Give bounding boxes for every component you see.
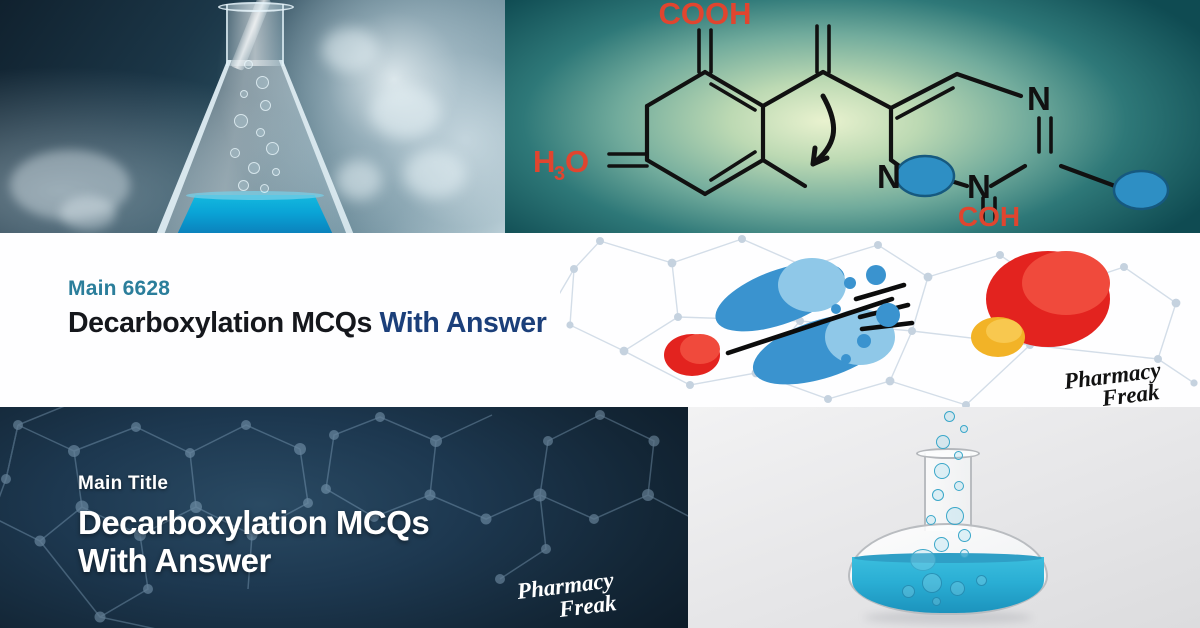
svg-text:O: O — [565, 144, 589, 179]
label-coh: COH — [958, 201, 1020, 232]
watermark-pharmacy-freak-light: Pharmacy Freak — [516, 578, 656, 620]
atom-oxygen-highlight-2 — [1114, 171, 1168, 209]
bubble-icon — [946, 507, 964, 525]
label-nitrogen-3: N — [1027, 80, 1051, 117]
bubble-in-liquid — [932, 597, 941, 606]
bubble-in-liquid — [976, 575, 987, 586]
bubble-in-liquid — [922, 573, 942, 593]
label-nitrogen-1: N — [877, 158, 901, 195]
erlenmeyer-flask-icon — [148, 2, 363, 233]
dark-banner-text-block: Main Title Decarboxylation MCQs With Ans… — [78, 473, 429, 579]
bubble-icon — [256, 128, 265, 137]
bubble-icon — [238, 180, 249, 191]
dark-banner-title-line1: Decarboxylation MCQs — [78, 504, 429, 542]
orbital-lobe-upper — [778, 258, 846, 312]
flask-meniscus — [186, 191, 324, 200]
bubble-icon-large — [910, 549, 936, 571]
bubble-icon — [266, 142, 279, 155]
sphere-red-large-highlight — [1022, 251, 1110, 315]
flask-lip — [218, 2, 294, 12]
round-bottom-flask-icon — [848, 445, 1048, 620]
white-banner-text-block: Main 6628 Decarboxylation MCQs With Answ… — [68, 277, 546, 340]
label-cooh: COOH — [659, 0, 752, 31]
bubble-icon — [244, 60, 253, 69]
chemical-structure-diagram: COOH H 3 O N N N COH — [505, 0, 1200, 233]
bubble-icon — [926, 515, 936, 525]
banner-title-accent: With Answer — [380, 307, 547, 339]
panel-bottom-right-flask-photo — [688, 407, 1200, 628]
bokeh-blur-5 — [404, 150, 466, 198]
bubble-icon — [932, 489, 944, 501]
dark-banner-title-line2: With Answer — [78, 542, 429, 580]
atom-oxygen-highlight — [896, 156, 954, 196]
panel-middle-white-banner: Main 6628 Decarboxylation MCQs With Answ… — [0, 233, 1200, 407]
banner-title-main: Decarboxylation MCQs — [68, 307, 380, 339]
bubble-icon — [960, 425, 968, 433]
bokeh-blur-2 — [60, 196, 116, 230]
bubble-icon — [260, 100, 271, 111]
bubble-icon — [234, 114, 248, 128]
bubble-icon — [248, 162, 260, 174]
dark-banner-title: Decarboxylation MCQs With Answer — [78, 504, 429, 579]
sphere-red-small-highlight — [680, 334, 720, 364]
flask-liquid-surface — [854, 553, 1042, 563]
svg-text:H: H — [533, 144, 555, 179]
bubble-icon — [954, 481, 964, 491]
bokeh-blur-4 — [370, 86, 440, 138]
sphere-yellow-highlight — [986, 319, 1022, 343]
label-nitrogen-2: N — [967, 168, 991, 205]
svg-text:3: 3 — [554, 163, 565, 185]
bubble-icon — [960, 549, 969, 558]
bubble-icon — [934, 537, 949, 552]
watermark-pharmacy-freak-dark: Pharmacy Freak — [1063, 370, 1193, 408]
flask-lip — [916, 448, 980, 459]
label-h3o: H 3 O — [533, 144, 589, 185]
co2-molecule-graphic — [650, 237, 1130, 407]
panel-top-right-chem-structure: COOH H 3 O N N N COH — [505, 0, 1200, 233]
bubble-in-liquid — [902, 585, 915, 598]
flask-neck — [226, 4, 284, 66]
bubble-icon — [934, 463, 950, 479]
bubble-icon — [256, 76, 269, 89]
infographic-collage: COOH H 3 O N N N COH — [0, 0, 1200, 628]
dark-banner-eyebrow: Main Title — [78, 473, 429, 495]
bubble-icon — [936, 435, 950, 449]
bubble-icon — [944, 411, 955, 422]
banner-title: Decarboxylation MCQs With Answer — [68, 307, 546, 340]
banner-eyebrow: Main 6628 — [68, 277, 546, 301]
bubble-icon — [954, 451, 963, 460]
bubble-icon — [260, 184, 269, 193]
bubble-in-liquid — [950, 581, 965, 596]
panel-top-left-flask-photo — [0, 0, 505, 233]
bubble-icon — [272, 168, 280, 176]
bubble-icon — [230, 148, 240, 158]
bubble-icon — [240, 90, 248, 98]
bubble-icon — [958, 529, 971, 542]
